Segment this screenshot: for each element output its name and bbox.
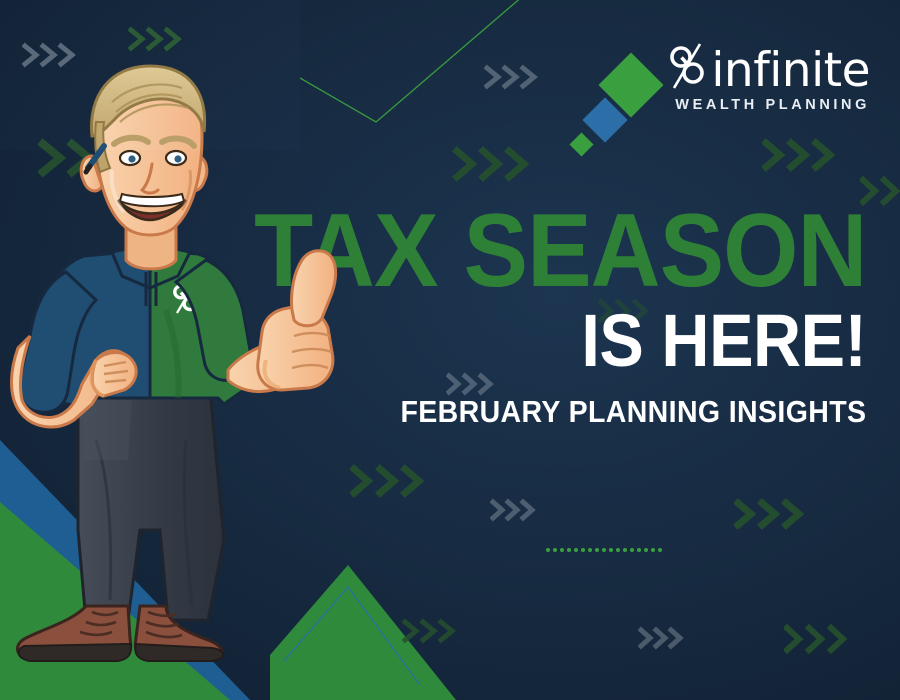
chevron-green-left-low [402, 618, 464, 644]
dotted-line-green [546, 546, 670, 554]
logo-tagline: WEALTH PLANNING [666, 97, 870, 113]
chevron-green-top-mid [128, 26, 190, 52]
logo-wordmark: infinite [711, 47, 870, 94]
character-head [81, 66, 207, 235]
chevron-gray-top-center [484, 64, 546, 90]
chevron-green-right [762, 138, 846, 172]
character-pants [78, 390, 224, 622]
infinity-dollar-icon [666, 40, 710, 92]
chevron-gray-bottom [638, 626, 694, 650]
logo-lockup: infinite [666, 34, 870, 94]
chevron-green-upper-mid [452, 146, 542, 182]
advisor-character-illustration [0, 60, 380, 700]
poster-canvas: infinite WEALTH PLANNING TAX SEASON IS H… [0, 0, 900, 700]
chevron-green-bottom [784, 624, 858, 654]
chevron-green-right-low [734, 498, 814, 530]
chevron-gray-low-center [490, 498, 546, 522]
brand-logo[interactable]: infinite WEALTH PLANNING [666, 34, 870, 113]
